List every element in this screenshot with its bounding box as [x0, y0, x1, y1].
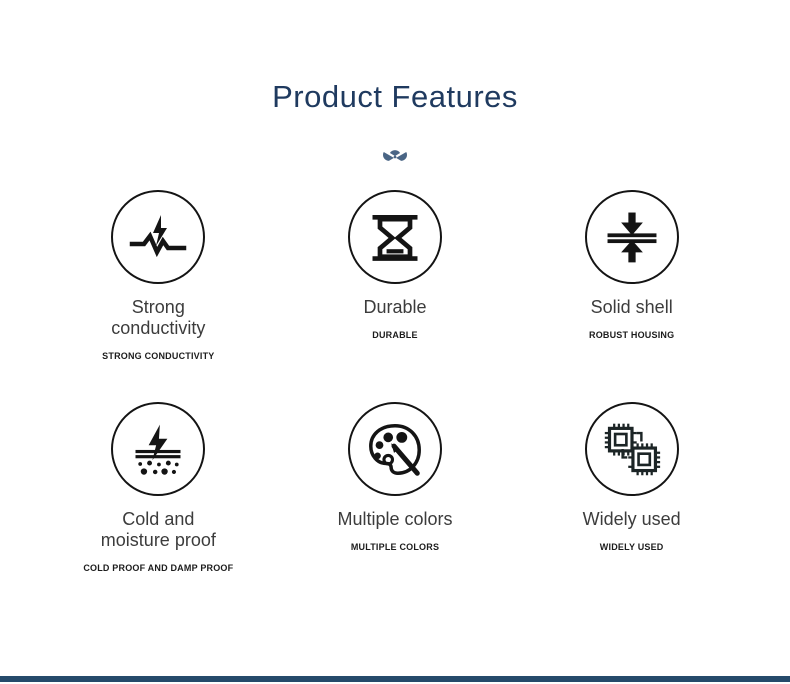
feature-title-line2: conductivity	[111, 318, 205, 338]
feature-title-line1: Cold and	[122, 509, 194, 529]
feature-title: Durable	[363, 297, 426, 318]
feature-item[interactable]: Multiple colors MULTIPLE COLORS	[277, 402, 514, 574]
feature-subtitle: DURABLE	[372, 329, 417, 341]
feature-title: Solid shell	[591, 297, 673, 318]
feature-title: Cold and moisture proof	[101, 509, 216, 551]
lightning-moisture-icon	[128, 419, 188, 479]
icon-circle	[348, 190, 442, 284]
feature-title-line1: Widely used	[583, 509, 681, 529]
paint-palette-icon	[364, 418, 426, 480]
feature-title: Strong conductivity	[111, 297, 205, 339]
feature-subtitle: COLD PROOF AND DAMP PROOF	[83, 562, 233, 574]
compression-arrows-icon	[603, 208, 661, 266]
page-title: Product Features	[0, 0, 790, 116]
icon-circle	[585, 190, 679, 284]
icon-circle	[348, 402, 442, 496]
feature-subtitle: MULTIPLE COLORS	[351, 541, 439, 553]
bottom-accent-bar	[0, 676, 790, 682]
feature-subtitle: STRONG CONDUCTIVITY	[102, 350, 214, 362]
feature-title-line2: moisture proof	[101, 530, 216, 550]
lightning-waveform-icon	[126, 205, 190, 269]
feature-item[interactable]: Widely used WIDELY USED	[513, 402, 750, 574]
feature-subtitle: WIDELY USED	[600, 541, 664, 553]
feature-title-line1: Multiple colors	[337, 509, 452, 529]
product-features-page: Product Features	[0, 0, 790, 684]
hourglass-icon	[365, 207, 425, 267]
icon-circle	[111, 190, 205, 284]
microchips-icon	[602, 419, 662, 479]
feature-item[interactable]: Strong conductivity STRONG CONDUCTIVITY	[40, 190, 277, 362]
feature-item[interactable]: Durable DURABLE	[277, 190, 514, 362]
radiation-trefoil-icon	[382, 144, 408, 170]
feature-title-line1: Durable	[363, 297, 426, 317]
feature-grid: Strong conductivity STRONG CONDUCTIVITY	[0, 190, 790, 574]
feature-title: Multiple colors	[337, 509, 452, 530]
feature-subtitle: ROBUST HOUSING	[589, 329, 674, 341]
icon-circle	[111, 402, 205, 496]
feature-title: Widely used	[583, 509, 681, 530]
divider	[0, 142, 790, 172]
feature-title-line1: Solid shell	[591, 297, 673, 317]
icon-circle	[585, 402, 679, 496]
feature-item[interactable]: Cold and moisture proof COLD PROOF AND D…	[40, 402, 277, 574]
feature-title-line1: Strong	[132, 297, 185, 317]
feature-item[interactable]: Solid shell ROBUST HOUSING	[513, 190, 750, 362]
